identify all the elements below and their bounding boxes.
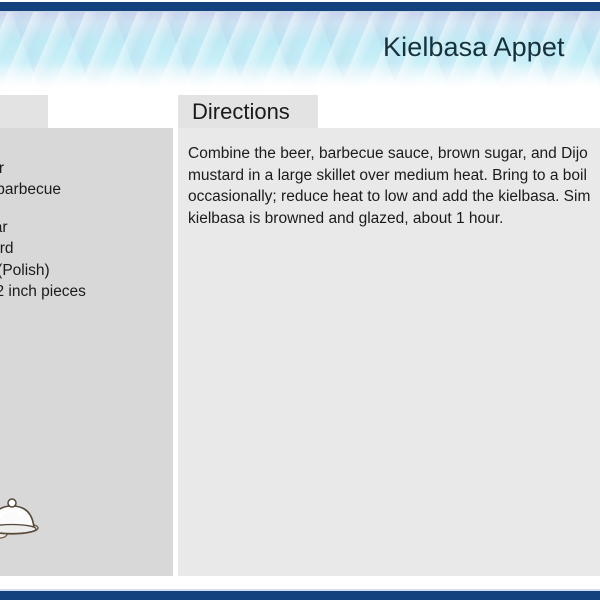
recipe-slide: Kielbasa Appet [0, 0, 600, 600]
panel-divider [173, 120, 178, 580]
directions-panel: Combine the beer, barbecue sauce, brown … [178, 128, 600, 576]
directions-line: kielbasa is browned and glazed, about 1 … [188, 208, 600, 230]
ingredients-header-tab: ents [0, 95, 48, 128]
directions-line: mustard in a large skillet over medium h… [188, 165, 600, 187]
bottom-accent-bar [0, 591, 600, 600]
directions-line: Combine the beer, barbecue sauce, brown … [188, 143, 600, 165]
directions-line: occasionally; reduce heat to low and add… [188, 186, 600, 208]
top-accent-bar [0, 2, 600, 11]
directions-header-tab: Directions [178, 95, 318, 128]
directions-heading: Directions [192, 97, 290, 127]
page-title: Kielbasa Appet [383, 30, 565, 64]
waiter-cloche-icon [0, 488, 72, 578]
directions-text: Combine the beer, barbecue sauce, brown … [188, 143, 600, 229]
